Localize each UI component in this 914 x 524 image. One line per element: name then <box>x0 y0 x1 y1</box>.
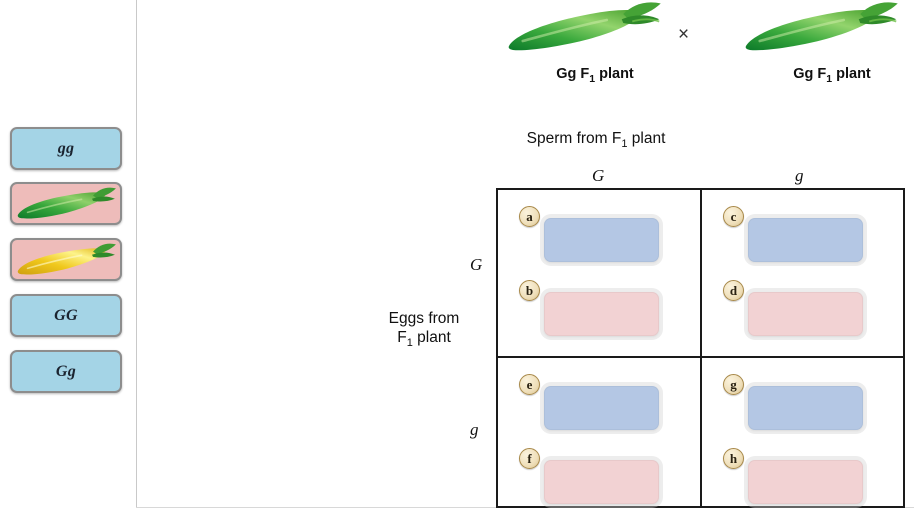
yellow-pea-pod-icon <box>14 241 118 279</box>
punnett-cell-GG: a b <box>498 190 700 356</box>
green-pea-pod-icon <box>505 2 685 62</box>
slot-badge-f: f <box>519 448 540 469</box>
answer-tile-green-pod[interactable] <box>10 182 122 225</box>
drop-slot-c[interactable] <box>748 218 863 262</box>
slot-badge-b: b <box>519 280 540 301</box>
slot-row: b <box>498 280 700 342</box>
answer-tile-gg[interactable]: gg <box>10 127 122 170</box>
punnett-cell-Gg-top-right: c d <box>702 190 904 356</box>
drop-slot-f[interactable] <box>544 460 659 504</box>
answer-tile-GG[interactable]: GG <box>10 294 122 337</box>
sperm-axis-label: Sperm from F1 plant <box>527 130 666 150</box>
green-pea-pod-icon <box>14 185 118 223</box>
drop-slot-h[interactable] <box>748 460 863 504</box>
panel-divider <box>136 0 137 508</box>
parent-plant-caption: Gg F1 plant <box>742 66 914 85</box>
drop-slot-b[interactable] <box>544 292 659 336</box>
slot-row: g <box>702 374 904 436</box>
drop-slot-a[interactable] <box>544 218 659 262</box>
column-allele-header-2: g <box>795 166 804 186</box>
slot-row: e <box>498 374 700 436</box>
eggs-axis-label: Eggs fromF1 plant <box>389 309 460 351</box>
column-allele-header-1: G <box>592 166 604 186</box>
drop-slot-g[interactable] <box>748 386 863 430</box>
cross-operator: × <box>678 24 689 46</box>
row-allele-header-1: G <box>470 255 482 275</box>
slot-badge-d: d <box>723 280 744 301</box>
answer-bank-panel: gg <box>0 0 136 519</box>
answer-tile-label: gg <box>58 140 75 158</box>
parent-plant-right: Gg F1 plant <box>742 2 914 85</box>
slot-badge-a: a <box>519 206 540 227</box>
slot-badge-e: e <box>519 374 540 395</box>
row-allele-header-2: g <box>470 420 479 440</box>
green-pea-pod-icon <box>742 2 914 62</box>
answer-tile-label: Gg <box>56 363 76 381</box>
slot-row: f <box>498 448 700 510</box>
answer-tile-yellow-pod[interactable] <box>10 238 122 281</box>
slot-badge-h: h <box>723 448 744 469</box>
parent-plant-caption: Gg F1 plant <box>505 66 685 85</box>
punnett-square-exercise: gg <box>0 0 914 519</box>
punnett-cell-gg: g h <box>702 358 904 524</box>
slot-row: c <box>702 206 904 268</box>
slot-badge-g: g <box>723 374 744 395</box>
punnett-cell-Gg-bottom-left: e f <box>498 358 700 524</box>
slot-row: a <box>498 206 700 268</box>
drop-slot-e[interactable] <box>544 386 659 430</box>
answer-tile-label: GG <box>54 307 78 325</box>
drop-slot-d[interactable] <box>748 292 863 336</box>
slot-badge-c: c <box>723 206 744 227</box>
parent-plant-left: Gg F1 plant <box>505 2 685 85</box>
slot-row: h <box>702 448 904 510</box>
answer-tile-Gg[interactable]: Gg <box>10 350 122 393</box>
slot-row: d <box>702 280 904 342</box>
punnett-square-grid: a b c d e f <box>496 188 905 508</box>
